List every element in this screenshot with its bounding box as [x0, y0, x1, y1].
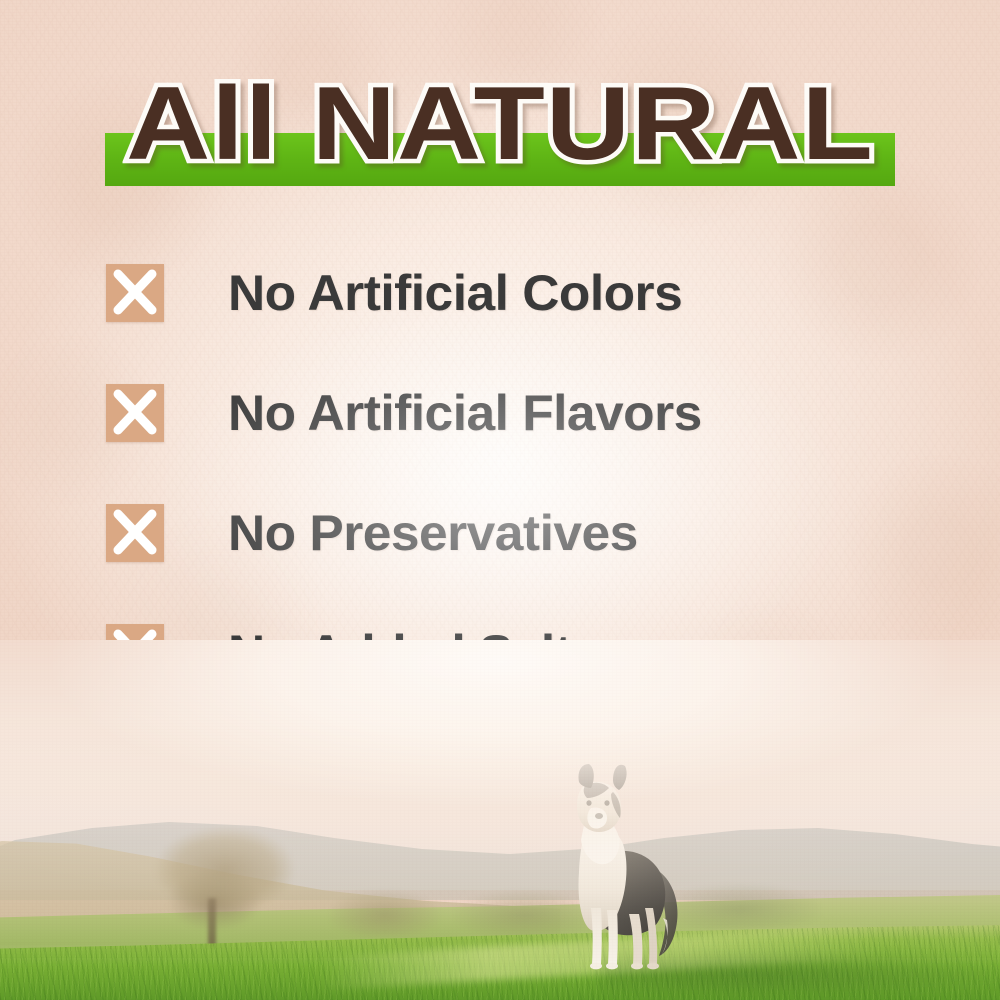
- bare-tree: [140, 820, 310, 950]
- x-mark-icon: [106, 264, 164, 322]
- x-mark-icon: [106, 384, 164, 442]
- feature-graphic: All NATURAL No Artificial Colors No Arti…: [0, 0, 1000, 1000]
- headline-banner: All NATURAL: [0, 0, 1000, 210]
- list-item: No Preservatives: [0, 490, 1000, 610]
- dog-field-photo: [0, 640, 1000, 1000]
- list-item-label: No Artificial Flavors: [228, 382, 702, 444]
- list-item-label: No Preservatives: [228, 502, 638, 564]
- list-item: No Artificial Colors: [0, 250, 1000, 370]
- dog: [545, 758, 695, 988]
- shrub: [330, 890, 440, 936]
- list-item-label: No Artificial Colors: [228, 262, 682, 324]
- x-mark-icon: [106, 504, 164, 562]
- list-item: No Artificial Flavors: [0, 370, 1000, 490]
- page-title: All NATURAL: [0, 74, 1000, 174]
- tree-trunk: [208, 898, 216, 948]
